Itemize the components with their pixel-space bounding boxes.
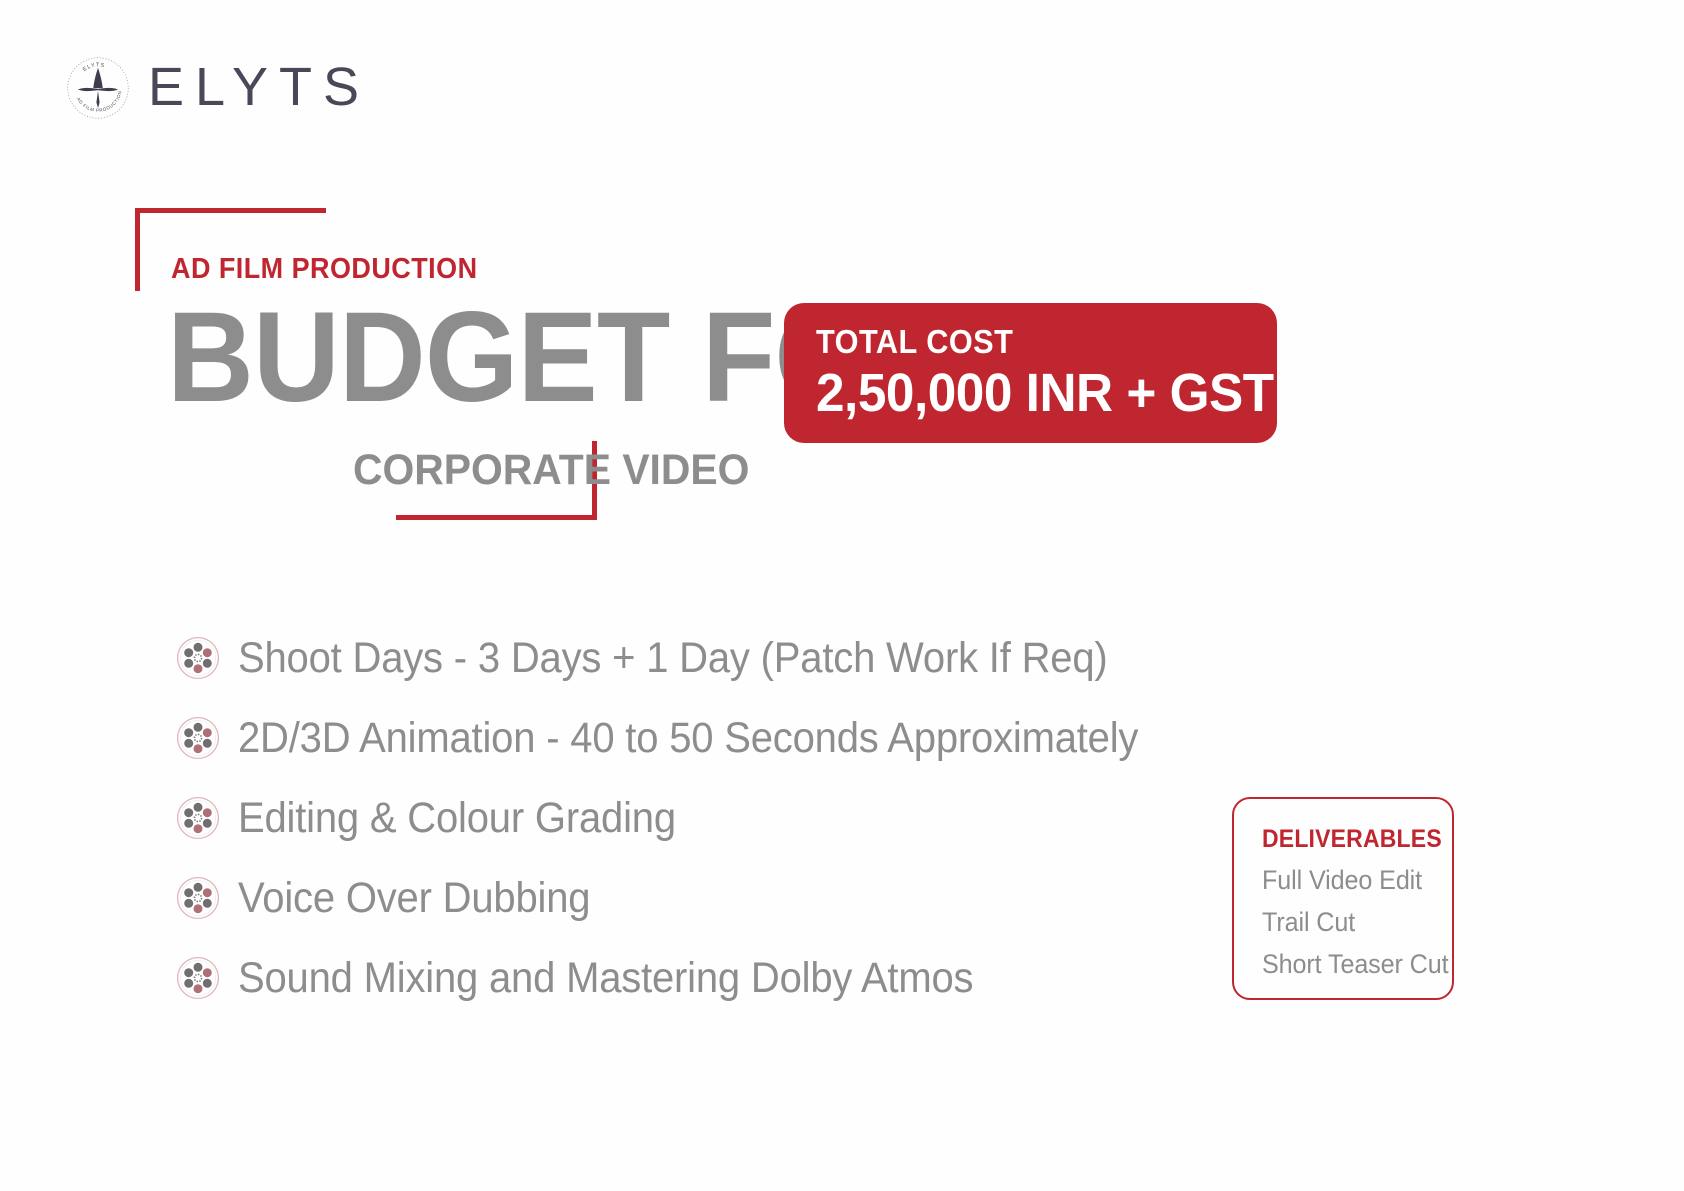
film-reel-icon: [176, 716, 220, 760]
list-item-label: 2D/3D Animation - 40 to 50 Seconds Appro…: [238, 714, 1138, 763]
eyebrow-label: AD FILM PRODUCTION: [171, 253, 478, 286]
deliverable-list-item: Short Teaser Cut: [1262, 949, 1439, 980]
film-reel-icon: [176, 636, 220, 680]
brand-logo: ELYTS AD FILM PRODUCTION ELYTS: [62, 52, 370, 124]
deliverable-list-item: Trail Cut: [1262, 907, 1439, 938]
page-subtitle: CORPORATE VIDEO: [353, 446, 749, 495]
list-item: Shoot Days - 3 Days + 1 Day (Patch Work …: [176, 618, 1176, 698]
list-item: Sound Mixing and Mastering Dolby Atmos: [176, 938, 1176, 1018]
film-reel-icon: [176, 876, 220, 920]
film-reel-icon: [176, 796, 220, 840]
list-item: 2D/3D Animation - 40 to 50 Seconds Appro…: [176, 698, 1176, 778]
deliverable-list-item: Full Video Edit: [1262, 865, 1439, 896]
title-block: AD FILM PRODUCTION BUDGET FOR CORPORATE …: [135, 208, 605, 520]
list-item-label: Voice Over Dubbing: [238, 874, 590, 923]
list-item: Editing & Colour Grading: [176, 778, 1176, 858]
list-item: Voice Over Dubbing: [176, 858, 1176, 938]
scope-list: Shoot Days - 3 Days + 1 Day (Patch Work …: [176, 618, 1176, 1018]
total-cost-label: TOTAL COST: [816, 325, 1245, 360]
svg-text:ELYTS: ELYTS: [82, 62, 106, 73]
list-item-label: Editing & Colour Grading: [238, 794, 676, 843]
film-reel-icon: [176, 956, 220, 1000]
budget-slide: ELYTS AD FILM PRODUCTION ELYTS AD FILM P…: [0, 0, 1684, 1191]
deliverables-title: DELIVERABLES: [1262, 825, 1437, 854]
total-cost-card: TOTAL COST 2,50,000 INR + GST: [784, 303, 1277, 443]
brand-wordmark: ELYTS: [148, 60, 370, 117]
brand-badge-icon: ELYTS AD FILM PRODUCTION: [62, 52, 134, 124]
list-item-label: Sound Mixing and Mastering Dolby Atmos: [238, 954, 973, 1003]
list-item-label: Shoot Days - 3 Days + 1 Day (Patch Work …: [238, 634, 1108, 683]
deliverables-card: DELIVERABLES Full Video Edit Trail Cut S…: [1232, 797, 1454, 1000]
total-cost-value: 2,50,000 INR + GST: [816, 364, 1254, 423]
